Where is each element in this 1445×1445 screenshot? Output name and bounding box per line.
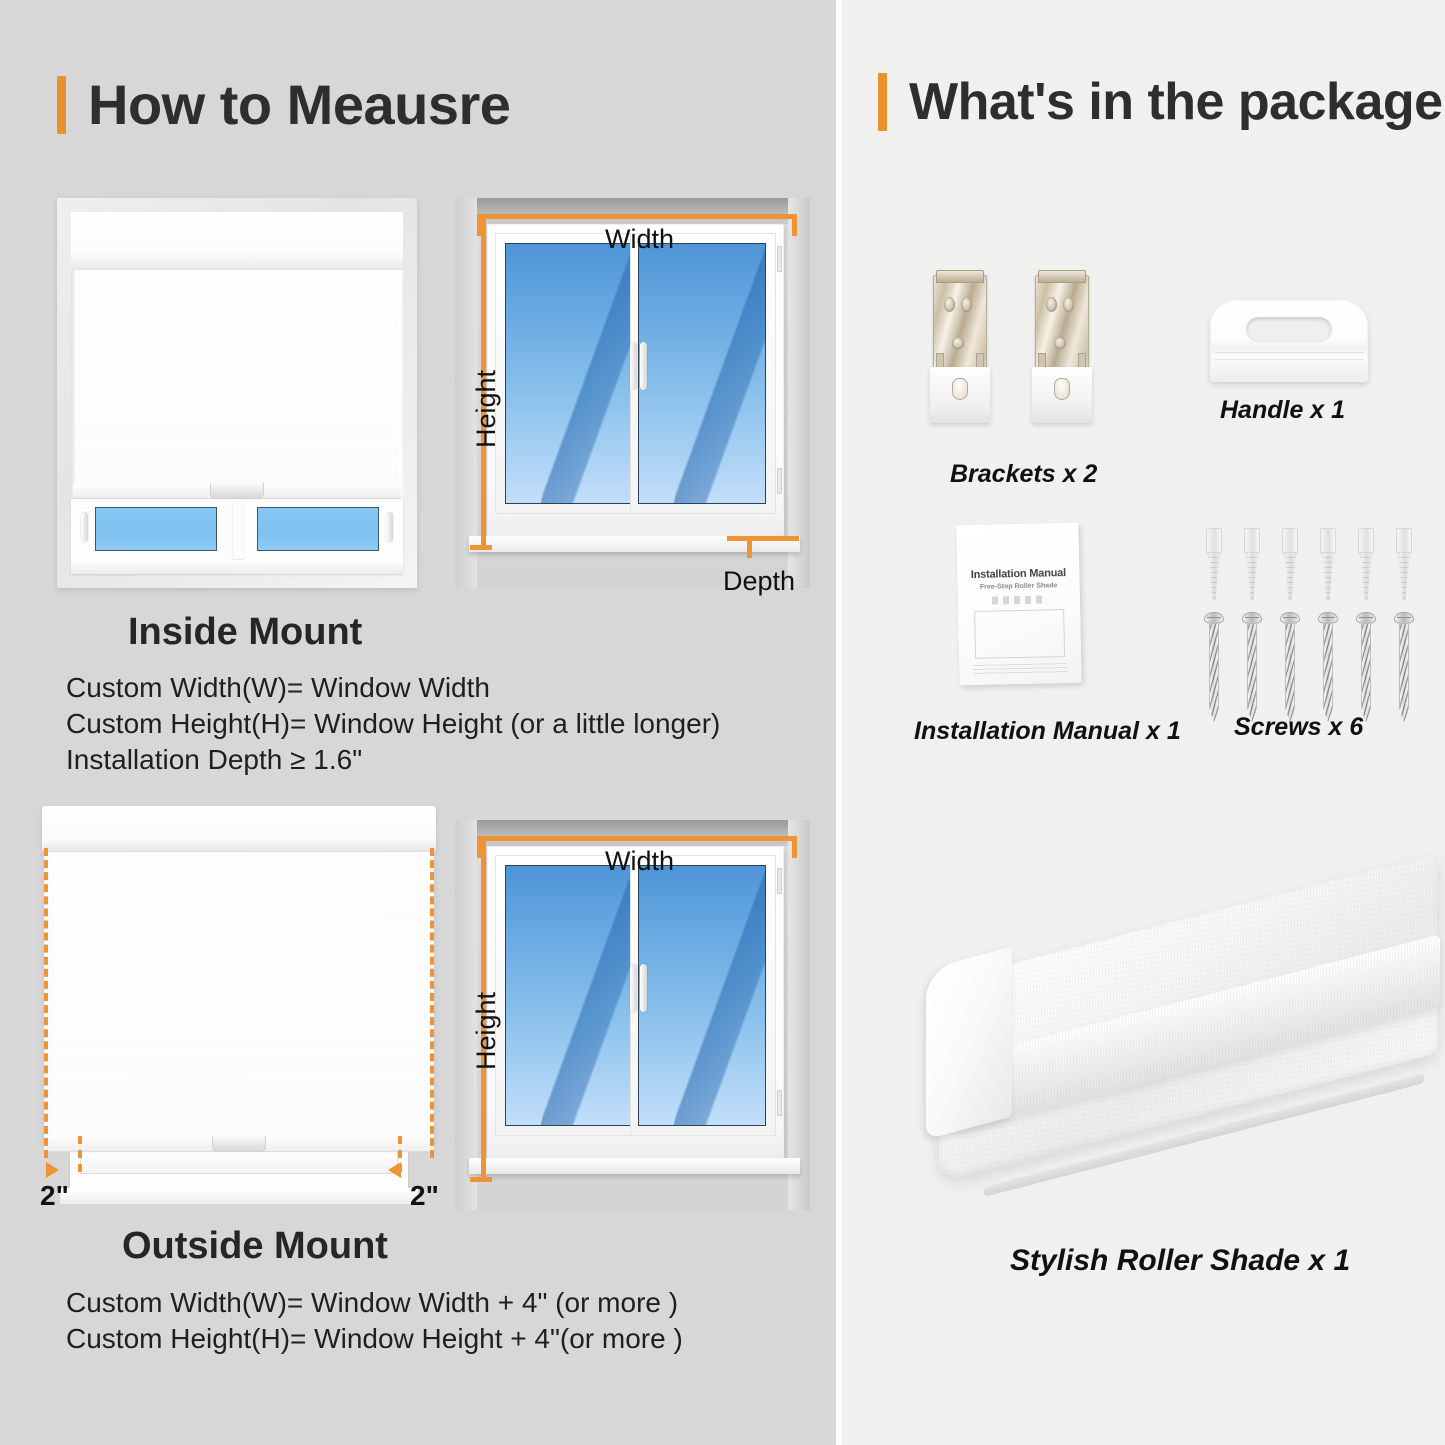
accent-bar-icon — [878, 73, 887, 131]
bracket-hole-c — [952, 337, 964, 349]
manual-cover-scribble — [992, 595, 1046, 604]
width-label: Width — [605, 846, 674, 877]
window-reveal-top — [455, 820, 810, 846]
outside-mount-title: Outside Mount — [122, 1225, 388, 1268]
window-sill-ledge — [469, 1158, 800, 1174]
roller-shade-label: Stylish Roller Shade x 1 — [1010, 1244, 1350, 1278]
outside-mount-text: Custom Width(W)= Window Width + 4" (or m… — [66, 1285, 683, 1357]
glass-pane-left — [95, 507, 217, 551]
height-measure-cap-bottom — [470, 545, 492, 550]
outside-shade-cassette — [42, 806, 436, 852]
overhang-inner-guide-left — [78, 1136, 82, 1172]
bracket-top-tab — [936, 270, 984, 283]
installation-manual-icon: Installation Manual Free-Stop Roller Sha… — [956, 523, 1081, 686]
screw-5-icon — [1356, 612, 1376, 722]
overhang-arrow-left — [46, 1162, 59, 1178]
width-measure-line — [477, 214, 797, 219]
width-measure-line — [477, 836, 797, 841]
hinge-bottom-icon — [777, 1090, 782, 1116]
overhang-guide-left — [44, 848, 48, 1158]
window-reveal-right — [788, 820, 810, 1210]
bracket-hole-b — [1063, 297, 1074, 312]
wall-anchor-4-icon — [1318, 528, 1338, 600]
inside-mount-measure-diagram: Width Height Depth — [455, 198, 810, 588]
shade-cassette — [71, 212, 403, 270]
bracket-keyhole — [1054, 378, 1070, 400]
wall-anchor-2-icon — [1242, 528, 1262, 600]
screw-6-icon — [1394, 612, 1414, 722]
shade-fabric — [75, 270, 399, 512]
window-glass-right — [638, 865, 766, 1126]
brackets-label: Brackets x 2 — [950, 460, 1097, 489]
window-handle-right-icon — [640, 342, 647, 390]
width-measure-cap-right — [792, 836, 797, 858]
shade-bottom-rail — [73, 483, 401, 499]
bracket-hole-a — [944, 297, 955, 312]
window-sill — [71, 560, 403, 574]
outside-shade-bottom-rail — [44, 1136, 434, 1152]
wall-anchor-1-icon — [1204, 528, 1224, 600]
how-to-measure-heading-text: How to Meausre — [88, 72, 510, 137]
inside-mount-line-1: Custom Width(W)= Window Width — [66, 670, 720, 706]
window-reveal-right — [788, 198, 810, 588]
package-contents-panel: What's in the package — [842, 0, 1445, 1445]
underlying-window-sill — [60, 1188, 418, 1204]
bracket-top-tab — [1038, 270, 1086, 283]
overhang-arrow-right — [388, 1162, 401, 1178]
overhang-right-label: 2" — [410, 1180, 439, 1212]
inside-mount-text: Custom Width(W)= Window Width Custom Hei… — [66, 670, 720, 777]
handle-label: Handle x 1 — [1220, 396, 1345, 425]
wall-anchor-3-icon — [1280, 528, 1300, 600]
depth-measure-line — [727, 536, 799, 541]
screw-4-icon — [1318, 612, 1338, 722]
hinge-top-icon — [777, 246, 782, 272]
outside-mount-line-1: Custom Width(W)= Window Width + 4" (or m… — [66, 1285, 683, 1321]
window-frame-inner — [71, 212, 403, 574]
height-label: Height — [471, 370, 502, 448]
manual-cover-footer-lines — [973, 663, 1067, 675]
window-sash-right — [630, 233, 776, 514]
bracket-hole-c — [1054, 337, 1066, 349]
how-to-measure-heading: How to Meausre — [57, 72, 510, 137]
window-glass-right — [638, 243, 766, 504]
outside-shade-pull-grip-icon — [212, 1136, 266, 1152]
depth-measure-tick — [747, 536, 752, 558]
outside-mount-shade-illustration: 2" 2" — [24, 806, 454, 1206]
inside-mount-shade-illustration — [57, 198, 417, 588]
bracket-2-icon — [1032, 275, 1092, 423]
hinge-bottom-icon — [777, 468, 782, 494]
package-heading-text: What's in the package — [909, 72, 1443, 132]
height-measure-cap-bottom — [470, 1177, 492, 1182]
manual-label: Installation Manual x 1 — [914, 717, 1181, 746]
width-label: Width — [605, 224, 674, 255]
sash-handle-right-icon — [386, 512, 393, 542]
handle-icon — [1210, 300, 1368, 382]
wall-anchor-6-icon — [1394, 528, 1414, 600]
infographic-page: How to Meausre — [0, 0, 1445, 1445]
screws-label: Screws x 6 — [1234, 713, 1363, 742]
window-handle-left-icon — [630, 964, 637, 1012]
window-reveal-top — [455, 198, 810, 224]
overhang-guide-right — [430, 848, 434, 1158]
window-glass-left — [505, 243, 633, 504]
manual-cover-figure — [974, 609, 1065, 659]
outside-mount-line-2: Custom Height(H)= Window Height + 4"(or … — [66, 1321, 683, 1357]
manual-cover-subtitle: Free-Stop Roller Shade — [958, 582, 1080, 592]
window-frame — [487, 846, 784, 1158]
height-label: Height — [471, 992, 502, 1070]
how-to-measure-panel: How to Meausre — [0, 0, 836, 1445]
window-handle-right-icon — [640, 964, 647, 1012]
sash-handle-left-icon — [81, 512, 88, 542]
shade-pull-grip-icon — [210, 483, 264, 499]
window-sash-left — [495, 233, 641, 514]
roller-shade-icon — [904, 880, 1444, 1210]
screw-1-icon — [1204, 612, 1224, 722]
outside-mount-measure-diagram: Width Height — [455, 820, 810, 1210]
inside-mount-title: Inside Mount — [128, 611, 362, 654]
screw-2-icon — [1242, 612, 1262, 722]
manual-cover-title: Installation Manual — [957, 567, 1079, 582]
accent-bar-icon — [57, 76, 66, 134]
window-sash-right — [630, 855, 776, 1136]
window-sash-left — [495, 855, 641, 1136]
hinge-top-icon — [777, 868, 782, 894]
roller-shade-end-cap — [926, 946, 1012, 1139]
bracket-1-icon — [930, 275, 990, 423]
wall-anchor-5-icon — [1356, 528, 1376, 600]
width-measure-cap-right — [792, 214, 797, 236]
center-mullion — [233, 501, 243, 559]
outside-shade-fabric — [44, 852, 434, 1147]
bracket-hole-b — [961, 297, 972, 312]
inside-mount-line-2: Custom Height(H)= Window Height (or a li… — [66, 706, 720, 742]
package-heading: What's in the package — [878, 72, 1443, 132]
glass-pane-right — [257, 507, 379, 551]
window-glass-left — [505, 865, 633, 1126]
bracket-keyhole — [952, 378, 968, 400]
inside-mount-line-3: Installation Depth ≥ 1.6" — [66, 742, 720, 778]
window-handle-left-icon — [630, 342, 637, 390]
overhang-left-label: 2" — [40, 1180, 69, 1212]
window-frame — [487, 224, 784, 536]
screw-3-icon — [1280, 612, 1300, 722]
bracket-hole-a — [1046, 297, 1057, 312]
depth-label: Depth — [723, 566, 795, 597]
